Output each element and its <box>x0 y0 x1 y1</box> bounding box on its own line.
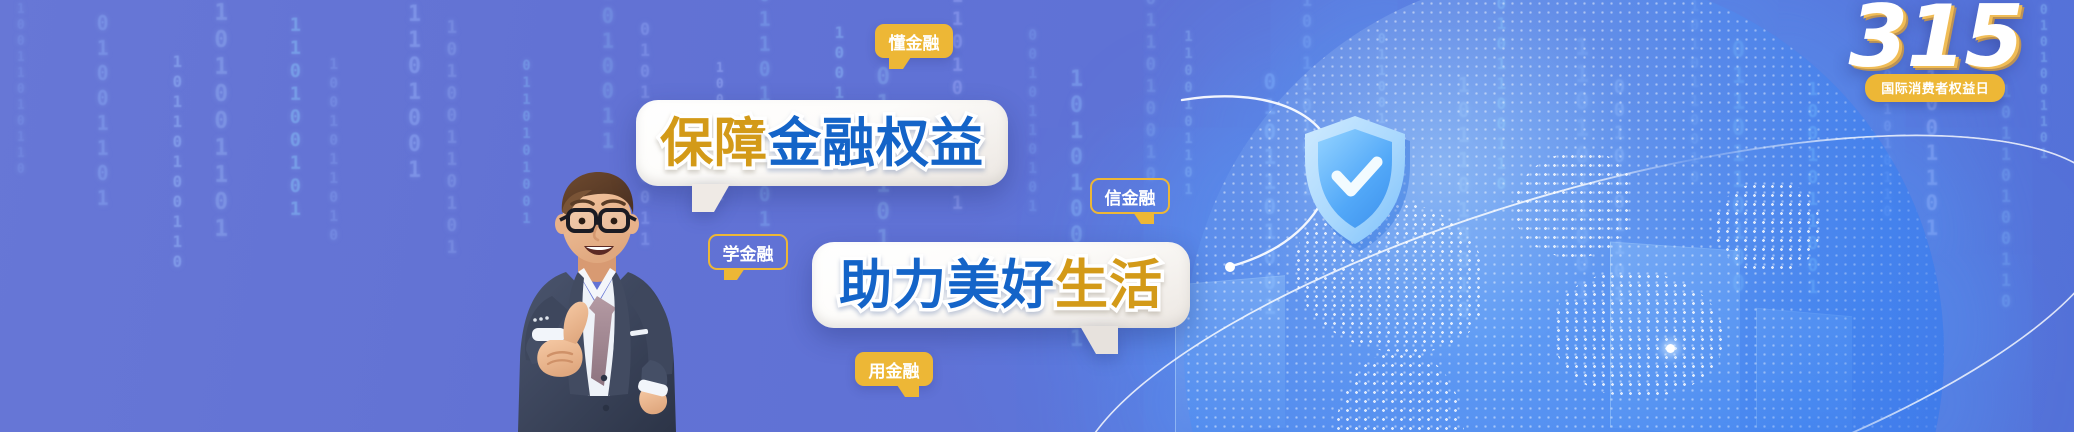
binary-column: 10100110101 <box>441 17 462 259</box>
binary-column: 01101001 <box>401 0 427 184</box>
logo-315-badge: 国际消费者权益日 <box>1865 74 2005 102</box>
tag-dong-label: 懂金融 <box>889 29 940 54</box>
tag-dong-jinrong[interactable]: 懂金融 <box>875 24 953 58</box>
tag-yong-jinrong[interactable]: 用金融 <box>855 352 933 386</box>
headline-bubble-secondary: 助力美好生活 <box>812 242 1190 328</box>
bubble-tail-primary <box>692 184 730 212</box>
tag-xue-label: 学金融 <box>723 240 774 265</box>
binary-column: 011010010 <box>1140 0 1161 186</box>
promo-banner: 1010011010110010011011011010011001010011… <box>0 0 2074 432</box>
headline-bubble-primary: 保障金融权益 <box>636 100 1008 186</box>
binary-column: 1010011 <box>595 0 620 154</box>
binary-column: 0101001101 <box>207 0 234 243</box>
tag-tail-xue <box>724 268 745 280</box>
tag-tail-yong <box>897 385 919 397</box>
headline-secondary-gold: 生活 <box>1055 259 1163 312</box>
binary-column: 01001101 <box>90 11 114 211</box>
tag-xue-jinrong[interactable]: 学金融 <box>708 234 788 270</box>
tag-xin-label: 信金融 <box>1105 184 1156 209</box>
logo-315-number: 315 <box>1848 0 2022 80</box>
tag-tail-dong <box>889 57 911 69</box>
headline-secondary-blue: 助力美好 <box>839 259 1055 312</box>
binary-column: 10110100110 <box>167 52 186 272</box>
binary-column: 0010110101 <box>1023 26 1041 216</box>
businessman-thumbs-up-icon <box>492 164 702 432</box>
binary-column: 110100101 <box>284 14 306 221</box>
binary-column: 1010011010110 <box>13 0 28 178</box>
headline-secondary: 助力美好生活 <box>839 259 1163 312</box>
shield-check-icon <box>1295 108 1415 256</box>
tag-yong-label: 用金融 <box>869 357 920 382</box>
headline-primary-blue: 金融权益 <box>768 117 984 170</box>
bubble-tail-secondary <box>1080 326 1118 354</box>
headline-primary: 保障金融权益 <box>660 117 984 170</box>
binary-column: 0101001101 <box>2036 3 2051 163</box>
logo-315: 315 国际消费者权益日 <box>1848 0 2022 102</box>
orbit-node-center <box>1666 344 1675 353</box>
headline-primary-gold: 保障 <box>660 117 768 170</box>
tag-xin-jinrong[interactable]: 信金融 <box>1090 178 1170 214</box>
binary-column: 1001011010 <box>324 55 342 245</box>
tag-tail-xin <box>1133 212 1154 224</box>
